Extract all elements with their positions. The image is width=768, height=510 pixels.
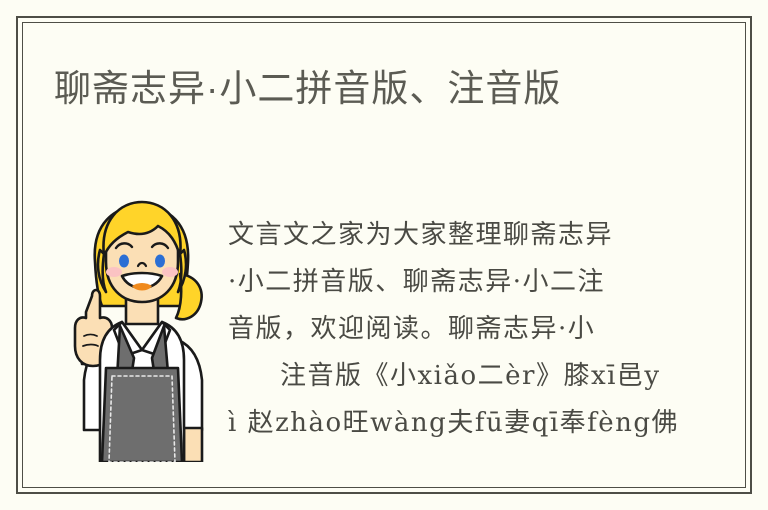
cheek-left-icon <box>106 267 122 277</box>
eye-left-icon <box>119 255 129 268</box>
cheek-right-icon <box>162 267 178 277</box>
body-line: ì 赵zhào旺wàng夫fū妻qī奉fèng佛 <box>228 400 740 447</box>
page-root: 聊斋志异·小二拼音版、注音版 <box>0 0 768 510</box>
page-title: 聊斋志异·小二拼音版、注音版 <box>54 64 561 114</box>
cartoon-woman-pointing-up-illustration <box>62 200 222 462</box>
body-line: 音版，欢迎阅读。聊斋志异·小 <box>228 306 740 353</box>
apron-panel-icon <box>102 368 182 462</box>
body-line: 注音版《小xiǎo二èr》膝xī邑y <box>228 353 740 400</box>
body-line: 文言文之家为大家整理聊斋志异 <box>228 212 740 259</box>
body-text-block: 文言文之家为大家整理聊斋志异 ·小二拼音版、聊斋志异·小二注 音版，欢迎阅读。聊… <box>228 212 740 462</box>
right-forearm-icon <box>184 428 202 462</box>
body-line: ·小二拼音版、聊斋志异·小二注 <box>228 259 740 306</box>
eye-right-icon <box>155 255 165 268</box>
